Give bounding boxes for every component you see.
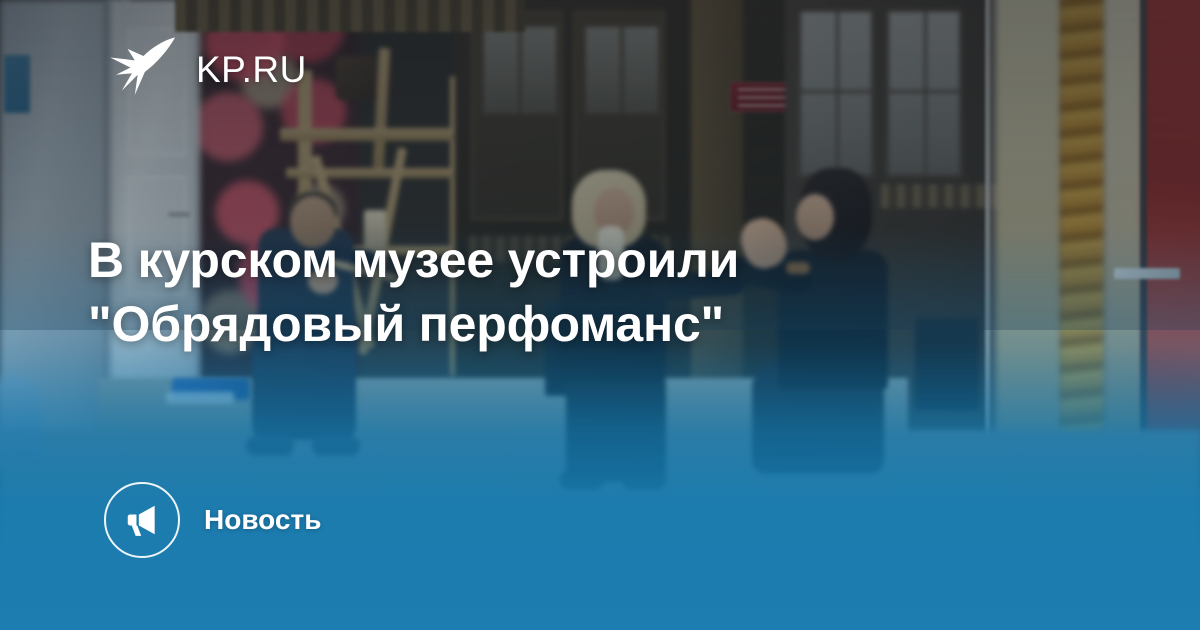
card-content: KP.RU В курском музее устроили "Обрядовы…	[0, 0, 1200, 630]
brand-name: KP.RU	[196, 51, 307, 88]
brand-lockup[interactable]: KP.RU	[106, 33, 307, 105]
megaphone-icon	[104, 482, 180, 558]
page-title: В курском музее устроили "Обрядовый перф…	[88, 228, 928, 356]
badge-label: Новость	[204, 506, 321, 534]
news-share-card: KP.RU В курском музее устроили "Обрядовы…	[0, 0, 1200, 630]
status-badge[interactable]: Новость	[104, 482, 321, 558]
swallow-bird-icon	[106, 33, 178, 105]
